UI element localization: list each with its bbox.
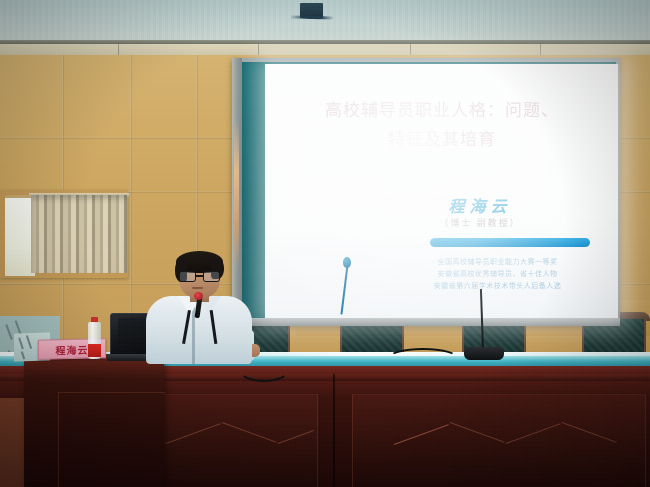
handheld-microphone-tip (194, 292, 203, 300)
paper-mark (26, 335, 32, 349)
eyeglass-lens-right (203, 271, 220, 282)
slide-author-credentials: （博士 副教授） (380, 216, 580, 229)
laser-pointer-knob-icon (343, 257, 351, 268)
band-seam (118, 44, 119, 55)
eyeglass-lens-left (179, 271, 196, 282)
band-seam (540, 44, 541, 55)
slide-title: 高校辅导员职业人格：问题、 特征及其培育 (277, 96, 607, 154)
name-placard-text: 程海云 (56, 341, 89, 357)
window (0, 190, 128, 278)
ceiling-speaker-icon (300, 3, 323, 18)
gooseneck-microphone-base (464, 347, 504, 360)
presenter-mouth (192, 287, 203, 289)
frame-reflection (234, 120, 239, 270)
presenter (146, 252, 252, 364)
bottle-label (88, 344, 101, 357)
cable (388, 348, 458, 368)
ceiling (0, 0, 650, 42)
dais-table-seam (333, 374, 335, 487)
eyeglass-bridge (196, 275, 203, 277)
wall-mark (5, 324, 12, 340)
curtain (31, 195, 127, 273)
laser-pointer-stalk-icon (340, 261, 349, 315)
slide-accent-bar (430, 238, 590, 247)
projection-screen: 高校辅导员职业人格：问题、 特征及其培育 程海云 （博士 副教授） 全国高校辅导… (265, 64, 618, 318)
board-frame-bottom (232, 318, 620, 326)
paper-mark (18, 337, 24, 349)
eyeglasses-icon (179, 271, 221, 282)
paper-mark (21, 351, 25, 359)
band-seam (410, 44, 411, 55)
ceiling-texture (0, 0, 650, 42)
water-bottle (88, 317, 101, 359)
photo-scene: 高校辅导员职业人格：问题、 特征及其培育 程海云 （博士 副教授） 全国高校辅导… (0, 0, 650, 487)
floor (0, 398, 26, 487)
podium-panel (58, 392, 165, 487)
slide-credits: 全国高校辅导员职业能力大赛一等奖 安徽省高校优秀辅导员、省十佳人物 安徽省第六届… (385, 256, 610, 292)
slide-author-name: 程海云 (380, 193, 580, 217)
band-seam (258, 44, 259, 55)
